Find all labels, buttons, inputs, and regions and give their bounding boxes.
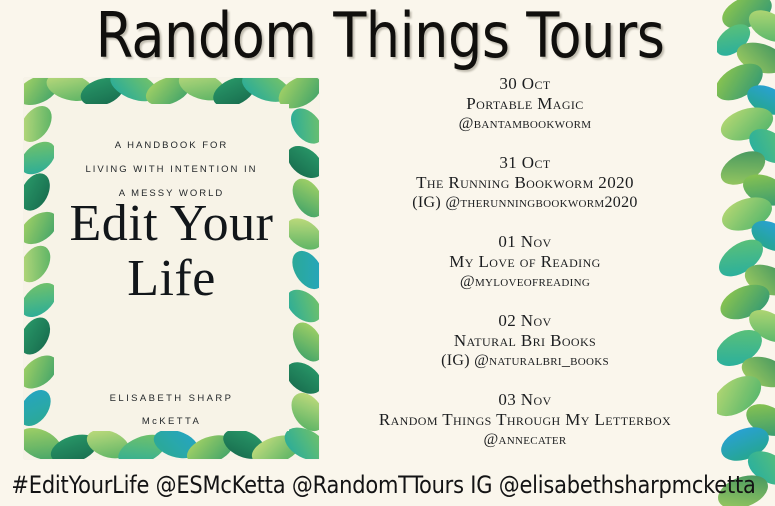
tour-stop: 02 Nov Natural Bri Books (IG) @naturalbr… — [330, 311, 720, 371]
book-cover-image: A HANDBOOK FOR LIVING WITH INTENTION IN … — [24, 78, 319, 459]
tour-stop-blog: Natural Bri Books — [330, 331, 720, 351]
tour-stop-blog: Random Things Through My Letterbox — [330, 410, 720, 430]
footer-handles: #EditYourLife @ESMcKetta @RandomTTours I… — [11, 470, 750, 500]
blog-tour-poster: Random Things Tours — [0, 0, 775, 506]
tour-stop-date: 30 Oct — [330, 74, 720, 94]
tour-stop: 03 Nov Random Things Through My Letterbo… — [330, 390, 720, 450]
tour-stop-blog: My Love of Reading — [330, 252, 720, 272]
cover-title: Edit Your Life — [54, 196, 289, 306]
tour-stop: 30 Oct Portable Magic @bantambookworm — [330, 74, 720, 134]
tour-stop-date: 03 Nov — [330, 390, 720, 410]
cover-author: ELISABETH SHARP McKETTA — [54, 387, 289, 433]
cover-author-line-1: ELISABETH SHARP — [54, 387, 289, 410]
tour-stop-handle: @bantambookworm — [330, 114, 720, 134]
tour-stop-date: 01 Nov — [330, 232, 720, 252]
tour-stop-handle: @myloveofreading — [330, 272, 720, 292]
poster-title: Random Things Tours — [11, 2, 748, 70]
cover-text-panel: A HANDBOOK FOR LIVING WITH INTENTION IN … — [54, 104, 289, 431]
tour-stop-date: 31 Oct — [330, 153, 720, 173]
tour-schedule-list: 30 Oct Portable Magic @bantambookworm 31… — [330, 74, 720, 450]
tour-stop-blog: Portable Magic — [330, 94, 720, 114]
tour-stop: 31 Oct The Running Bookworm 2020 (IG) @t… — [330, 153, 720, 213]
leaf-strip-decoration — [717, 0, 775, 506]
tour-stop-handle: (IG) @therunningbookworm2020 — [330, 193, 720, 213]
cover-title-line-1: Edit Your — [54, 196, 289, 251]
cover-tagline-line-1: A HANDBOOK FOR — [54, 134, 289, 158]
tour-stop-handle: (IG) @naturalbri_books — [330, 351, 720, 371]
cover-author-line-2: McKETTA — [54, 410, 289, 433]
cover-tagline-line-2: LIVING WITH INTENTION IN — [54, 158, 289, 182]
tour-stop: 01 Nov My Love of Reading @myloveofreadi… — [330, 232, 720, 292]
tour-stop-blog: The Running Bookworm 2020 — [330, 173, 720, 193]
cover-title-line-2: Life — [54, 251, 289, 306]
tour-stop-date: 02 Nov — [330, 311, 720, 331]
tour-stop-handle: @annecater — [330, 430, 720, 450]
